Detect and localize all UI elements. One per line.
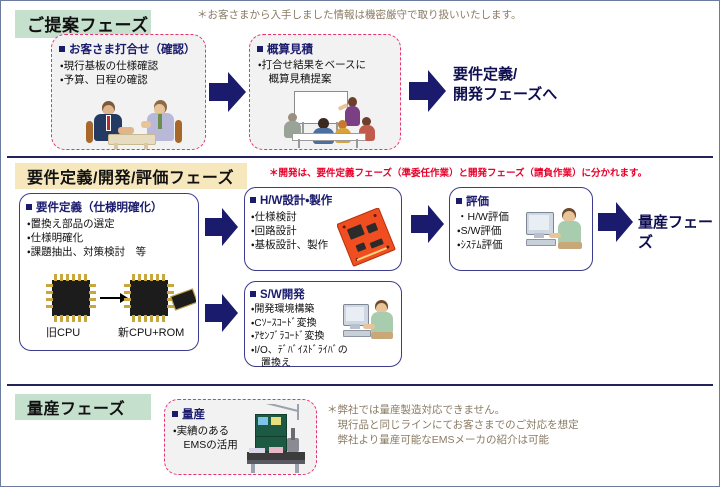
destination-mass-production: 量産フェーズ	[638, 213, 719, 252]
phase-header-requirements-dev-eval: 要件定義/開発/評価フェーズ	[15, 163, 247, 189]
square-bullet-icon	[59, 46, 65, 52]
box-customer-meeting: お客さま打合せ（確認） ・現行基板の仕様確認 ・予算、日程の確認	[51, 34, 206, 150]
box-customer-meeting-lines: ・現行基板の仕様確認 ・予算、日程の確認	[60, 59, 158, 87]
box-rough-estimate: 概算見積 ・打合せ結果をベースに 概算見積提案	[249, 34, 401, 150]
arrow-evaluation-to-mass-production	[598, 201, 634, 243]
phase-header-mass-production: 量産フェーズ	[15, 394, 151, 420]
box-mass-production: 量産 ・実績のある EMSの活用	[164, 399, 317, 475]
box-hw-design-lines: ・仕様検討 ・回路設計 ・基板設計、製作	[251, 210, 328, 253]
phase-header-requirements-dev-eval-label: 要件定義/開発/評価フェーズ	[27, 164, 234, 188]
rom-module-icon	[170, 288, 196, 310]
section-divider-2	[7, 384, 713, 386]
engineer-at-computer-icon	[341, 298, 401, 342]
square-bullet-icon	[172, 411, 178, 417]
pcb-board-icon	[337, 208, 399, 268]
phase-header-mass-production-label: 量産フェーズ	[27, 395, 125, 419]
square-bullet-icon	[250, 197, 256, 203]
box-rough-estimate-title: 概算見積	[257, 41, 313, 57]
cpu-new-label: 新CPU+ROM	[118, 324, 184, 340]
box-rough-estimate-lines: ・打合せ結果をベースに 概算見積提案	[258, 58, 366, 86]
box-mass-production-lines: ・実績のある EMSの活用	[173, 424, 238, 452]
section-divider-1	[7, 156, 713, 158]
box-hw-design: H/W設計・製作 ・仕様検討 ・回路設計 ・基板設計、製作	[244, 187, 402, 271]
box-sw-development-title: S/W開発	[250, 286, 305, 302]
note-ems-support: ＊弊社では量産製造対応できません。 現行品と同じラインにてお客さまでのご対応を想…	[327, 403, 707, 449]
box-requirements-definition: 要件定義（仕様明確化） ・置換え部品の選定 ・仕様明確化 ・課題抽出、対策検討 …	[19, 193, 199, 351]
engineer-at-computer-icon	[526, 206, 590, 252]
box-requirements-definition-title: 要件定義（仕様明確化）	[26, 199, 163, 215]
box-evaluation-lines: ・H/W評価 ・S/W評価 ・ｼｽﾃﾑ評価	[457, 210, 509, 253]
note-contract-split: ＊開発は、要件定義フェーズ（準委任作業）と開発フェーズ（請負作業）に分かれます。	[269, 167, 717, 181]
box-evaluation-title: 評価	[456, 193, 489, 209]
square-bullet-icon	[250, 291, 256, 297]
factory-line-icon	[241, 404, 317, 474]
meeting-two-people-icon	[78, 93, 188, 149]
box-sw-development: S/W開発 ・開発環境構築 ・Cｿｰｽｺｰﾄﾞ変換 ・ｱｾﾝﾌﾞﾗｺｰﾄﾞ変換 …	[244, 281, 402, 367]
note-confidentiality: ＊お客さまから入手しました情報は機密厳守で取り扱いいたします。	[197, 8, 707, 23]
arrow-requirements-to-hw	[205, 207, 239, 247]
phase-header-proposal-label: ご提案フェーズ	[27, 11, 149, 36]
square-bullet-icon	[456, 198, 462, 204]
whiteboard-presentation-icon	[278, 91, 388, 149]
arrow-meeting-to-estimate	[209, 71, 247, 113]
box-evaluation: 評価 ・H/W評価 ・S/W評価 ・ｼｽﾃﾑ評価	[449, 187, 593, 271]
arrow-hw-to-evaluation	[411, 204, 445, 244]
box-mass-production-title: 量産	[172, 406, 205, 422]
cpu-replacement-icon: 旧CPU	[28, 272, 196, 348]
cpu-old-label: 旧CPU	[46, 324, 80, 340]
box-hw-design-title: H/W設計・製作	[250, 192, 332, 208]
arrow-requirements-to-sw	[205, 293, 239, 333]
arrow-estimate-to-next-phase	[409, 69, 447, 113]
square-bullet-icon	[257, 46, 263, 52]
square-bullet-icon	[26, 204, 32, 210]
box-sw-development-lines: ・開発環境構築 ・Cｿｰｽｺｰﾄﾞ変換 ・ｱｾﾝﾌﾞﾗｺｰﾄﾞ変換 ・I/O、ﾃ…	[251, 303, 348, 371]
destination-requirements-dev: 要件定義/ 開発フェーズへ	[453, 65, 557, 104]
box-customer-meeting-title: お客さま打合せ（確認）	[59, 41, 196, 57]
diagram-canvas: ご提案フェーズ ＊お客さまから入手しました情報は機密厳守で取り扱いいたします。 …	[0, 0, 720, 487]
box-requirements-definition-lines: ・置換え部品の選定 ・仕様明確化 ・課題抽出、対策検討 等	[27, 217, 146, 260]
